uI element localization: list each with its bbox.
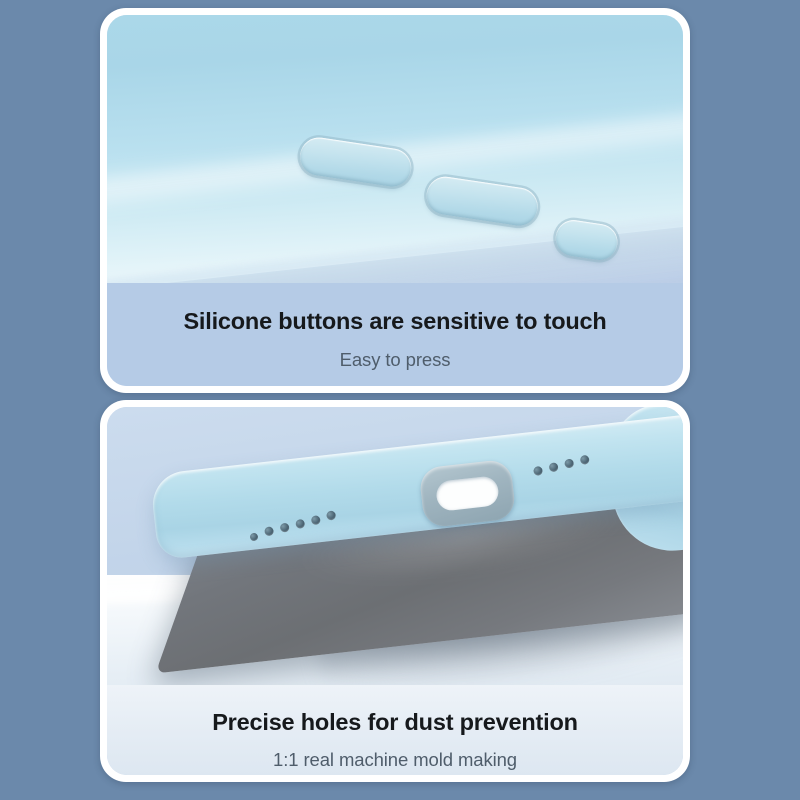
speaker-grille-left	[248, 511, 337, 540]
grille-dot	[326, 510, 337, 521]
caption-title: Precise holes for dust prevention	[107, 711, 683, 735]
grille-dot	[279, 522, 290, 533]
caption-block: Silicone buttons are sensitive to touch …	[107, 283, 683, 386]
caption-subtitle: Easy to press	[107, 351, 683, 370]
grille-dot	[579, 454, 590, 465]
feature-panel-silicone-buttons[interactable]: Silicone buttons are sensitive to touch …	[100, 8, 690, 393]
panel-inner: Silicone buttons are sensitive to touch …	[107, 15, 683, 386]
panel-inner: Precise holes for dust prevention 1:1 re…	[107, 407, 683, 775]
caption-subtitle: 1:1 real machine mold making	[107, 751, 683, 770]
grille-dot	[264, 526, 275, 537]
caption-title: Silicone buttons are sensitive to touch	[107, 310, 683, 334]
phone-with-case	[135, 407, 683, 685]
grille-dot	[564, 458, 575, 469]
grille-dot	[533, 466, 544, 477]
product-photo-precise-holes	[107, 407, 683, 685]
grille-dot	[548, 462, 559, 473]
caption-block: Precise holes for dust prevention 1:1 re…	[107, 685, 683, 775]
grille-dot	[295, 518, 306, 529]
charging-port-cutout[interactable]	[418, 459, 516, 529]
product-feature-gallery: Silicone buttons are sensitive to touch …	[0, 0, 800, 800]
speaker-grille-right	[533, 454, 591, 476]
grille-dot	[249, 532, 259, 542]
feature-panel-precise-holes[interactable]: Precise holes for dust prevention 1:1 re…	[100, 400, 690, 782]
product-photo-silicone-buttons	[107, 15, 683, 283]
grille-dot	[310, 515, 321, 526]
